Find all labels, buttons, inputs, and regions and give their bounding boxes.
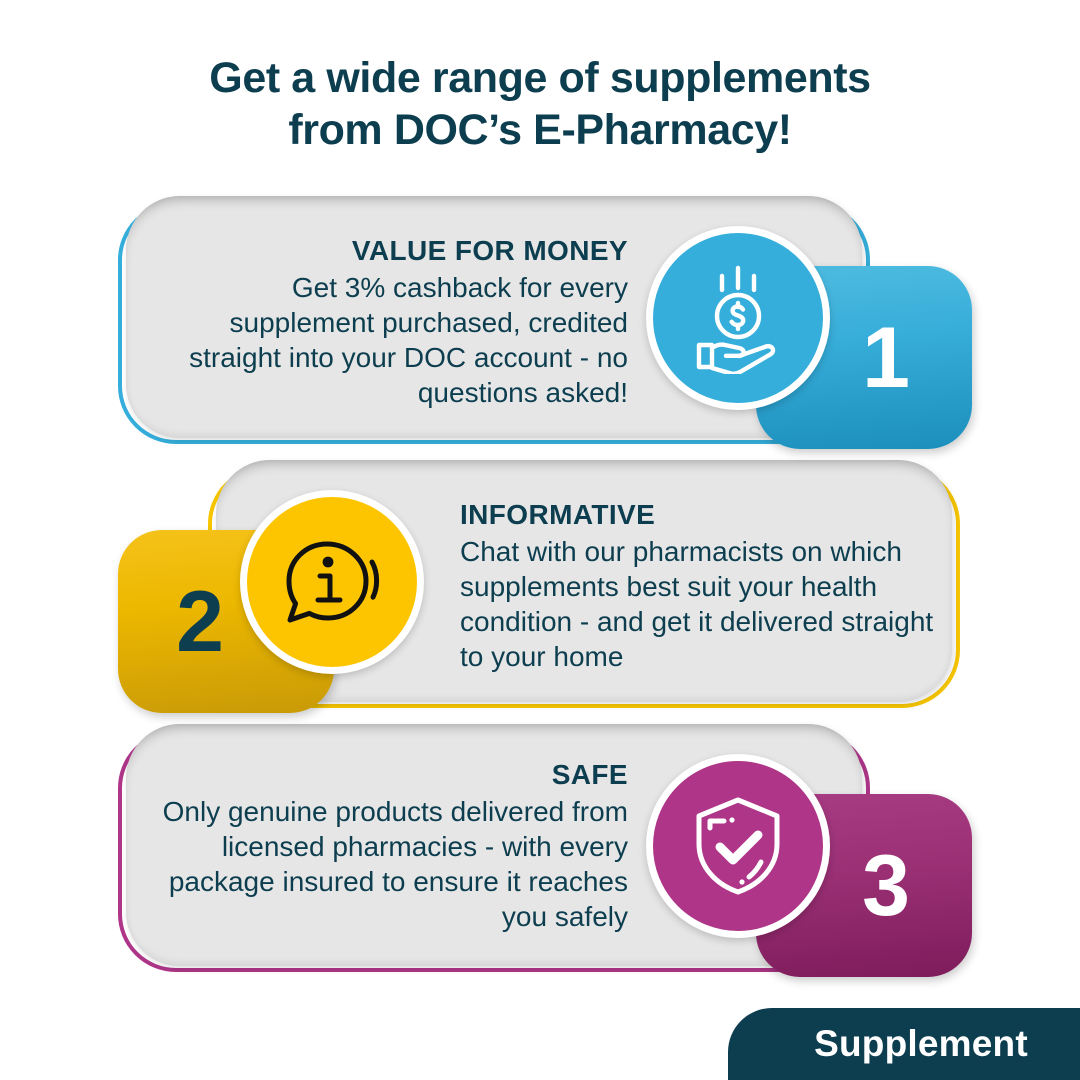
info-speech-bubble-icon bbox=[240, 490, 424, 674]
card-heading: VALUE FOR MONEY bbox=[150, 234, 628, 268]
card-text-block-3: SAFE Only genuine products delivered fro… bbox=[150, 758, 628, 935]
card-number-label: 1 bbox=[862, 315, 910, 401]
card-text-block-2: INFORMATIVE Chat with our pharmacists on… bbox=[460, 498, 948, 675]
card-body: Only genuine products delivered from lic… bbox=[150, 794, 628, 935]
bottom-banner: Supplement bbox=[728, 1008, 1080, 1080]
page-title-line-2: from DOC’s E-Pharmacy! bbox=[0, 104, 1080, 156]
card-body: Chat with our pharmacists on which suppl… bbox=[460, 534, 948, 675]
info-speech-bubble-glyph bbox=[274, 524, 390, 640]
shield-check-glyph bbox=[682, 790, 794, 902]
hand-holding-coin-icon bbox=[646, 226, 830, 410]
card-text-block-1: VALUE FOR MONEY Get 3% cashback for ever… bbox=[150, 234, 628, 411]
banner-label: Supplement bbox=[780, 1023, 1028, 1065]
card-body: Get 3% cashback for every supplement pur… bbox=[150, 270, 628, 411]
card-number-label: 2 bbox=[176, 579, 224, 665]
shield-check-icon bbox=[646, 754, 830, 938]
page-title: Get a wide range of supplements from DOC… bbox=[0, 52, 1080, 157]
page-title-line-1: Get a wide range of supplements bbox=[0, 52, 1080, 104]
card-number-label: 3 bbox=[862, 843, 910, 929]
card-heading: INFORMATIVE bbox=[460, 498, 948, 532]
card-heading: SAFE bbox=[150, 758, 628, 792]
hand-holding-coin-glyph bbox=[682, 262, 794, 374]
